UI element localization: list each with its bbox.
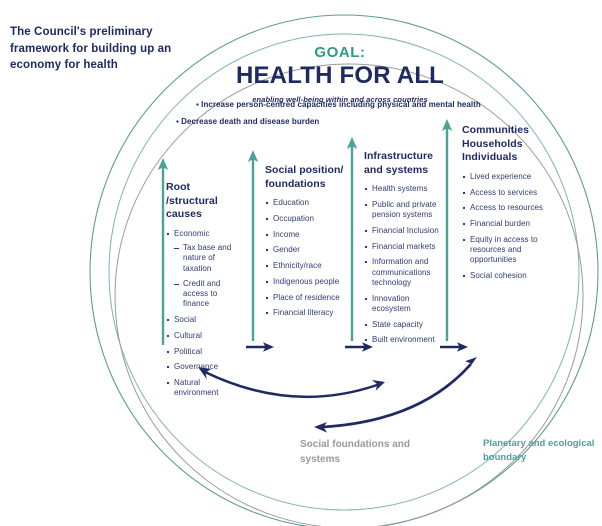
pillar-root-structural-causes: Root /structural causes Economic Tax bas… [166, 181, 244, 404]
pillar-item-list: Economic Tax base and nature of taxation… [166, 229, 244, 399]
pillar-item: Ethnicity/race [265, 261, 347, 271]
pillar-heading: Infrastructure and systems [364, 150, 442, 177]
pillar-item: Governance [166, 362, 244, 372]
pillar-item: Natural environment [166, 378, 244, 398]
pillar-subitem: Tax base and nature of taxation [174, 243, 244, 274]
bullet-dot: ▪ [176, 117, 179, 126]
pillar-item: Lived experience [462, 172, 548, 182]
goal-headline: HEALTH FOR ALL [190, 62, 490, 90]
pillar-subitem-list: Tax base and nature of taxation Credit a… [174, 243, 244, 309]
bullet-dot: ▪ [196, 100, 199, 109]
goal-bullet: ▪ Increase person-centred capacities inc… [196, 100, 481, 109]
pillar-item: Education [265, 198, 347, 208]
pillar-item: Equity in access to resources and opport… [462, 235, 548, 266]
pillar-heading: Root /structural causes [166, 181, 244, 222]
pillar-item: Gender [265, 245, 347, 255]
pillar-item: Economic Tax base and nature of taxation… [166, 229, 244, 310]
pillar-item: Financial burden [462, 219, 548, 229]
pillar-item: Political [166, 347, 244, 357]
pillar-social-position-foundations: Social position/ foundations Education O… [265, 164, 347, 324]
planetary-boundary-label: Planetary and ecological boundary [483, 437, 595, 465]
pillar-item: Occupation [265, 214, 347, 224]
pillar-connector-arrow-2 [440, 342, 468, 352]
goal-bullet: ▪ Decrease death and disease burden [176, 117, 319, 126]
pillar-item: Access to services [462, 188, 548, 198]
pillar-item: Public and private pension systems [364, 200, 442, 220]
pillar-item: Social cohesion [462, 271, 548, 281]
goal-bullet-label: Increase person-centred capacities inclu… [201, 100, 481, 109]
social-foundations-label: Social foundations and systems [300, 438, 420, 467]
pillar-connector-arrow-0 [246, 342, 274, 352]
pillar-item: Health systems [364, 184, 442, 194]
pillar-item-list: Health systems Public and private pensio… [364, 184, 442, 345]
pillar-item: Indigenous people [265, 277, 347, 287]
pillar-item: Financial literacy [265, 308, 347, 318]
pillar-up-arrow-3 [442, 119, 452, 341]
pillar-infrastructure-and-systems: Infrastructure and systems Health system… [364, 150, 442, 351]
pillar-subitem: Credit and access to finance [174, 279, 244, 310]
pillar-communities-households-individuals: Communities Households Individuals Lived… [462, 124, 548, 287]
pillar-up-arrow-2 [347, 137, 357, 341]
framework-title: The Council's preliminary framework for … [10, 24, 180, 74]
pillar-heading: Communities Households Individuals [462, 124, 548, 165]
pillar-item: Social [166, 315, 244, 325]
pillar-item: Place of residence [265, 293, 347, 303]
goal-block: GOAL: HEALTH FOR ALL enabling well-being… [190, 44, 490, 104]
pillar-item-list: Lived experience Access to services Acce… [462, 172, 548, 281]
pillar-item-label: Economic [174, 229, 210, 238]
pillar-item: Built environment [364, 335, 442, 345]
pillar-up-arrow-1 [248, 150, 258, 341]
pillar-heading: Social position/ foundations [265, 164, 347, 191]
framework-diagram: The Council's preliminary framework for … [0, 0, 602, 526]
pillar-item: Income [265, 230, 347, 240]
pillar-item: Access to resources [462, 203, 548, 213]
goal-label: GOAL: [190, 44, 490, 61]
pillar-item: Information and communications technolog… [364, 257, 442, 288]
pillar-item: State capacity [364, 320, 442, 330]
goal-bullet-label: Decrease death and disease burden [181, 117, 319, 126]
pillar-item: Financial markets [364, 242, 442, 252]
pillar-item: Financial Inclusion [364, 226, 442, 236]
pillar-item-list: Education Occupation Income Gender Ethni… [265, 198, 347, 318]
pillar-item: Innovation ecosystem [364, 294, 442, 314]
pillar-item: Cultural [166, 331, 244, 341]
